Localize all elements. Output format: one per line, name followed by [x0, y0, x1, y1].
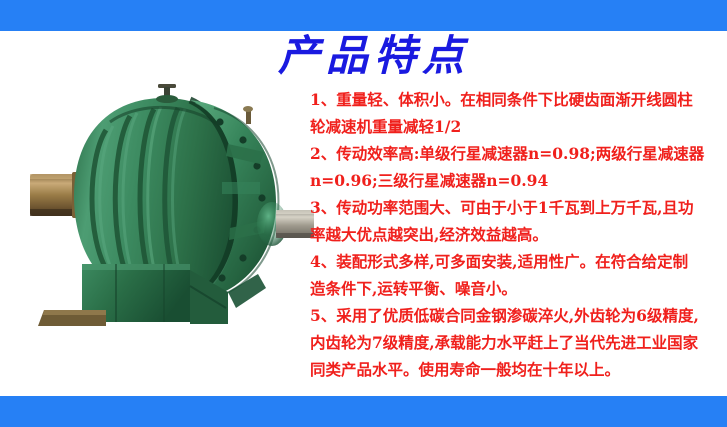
breather-vent-plug	[156, 84, 178, 103]
feature-line: 轮减速机重量减轻1/2	[310, 113, 722, 140]
page-title: 产品特点	[278, 33, 470, 78]
feature-line: 4、装配形式多样,可多面安装,适用性广。在符合给定制	[310, 248, 722, 275]
bottom-accent-bar	[0, 396, 727, 427]
product-photo-gear-reducer	[14, 78, 314, 326]
feature-line: 率越大优点越突出,经济效益越高。	[310, 221, 722, 248]
feature-line: 内齿轮为7级精度,承载能力水平赶上了当代先进工业国家	[310, 329, 722, 356]
feature-text-block: 1、重量轻、体积小。在相同条件下比硬齿面渐开线圆柱 轮减速机重量减轻1/2 2、…	[310, 86, 722, 383]
feature-line: 1、重量轻、体积小。在相同条件下比硬齿面渐开线圆柱	[310, 86, 722, 113]
feature-line: 3、传动功率范围大、可由于小于1千瓦到上万千瓦,且功	[310, 194, 722, 221]
feature-line: 同类产品水平。使用寿命一般均在十年以上。	[310, 356, 722, 383]
lifting-stud	[243, 106, 253, 124]
input-shaft	[257, 202, 314, 246]
product-feature-banner: 产品特点 1、重量轻、体积小。在相同条件下比硬齿面渐开线圆柱 轮减速机重量减轻1…	[0, 0, 727, 427]
output-shaft	[30, 172, 81, 218]
feature-line: 5、采用了优质低碳合同金钢渗碳淬火,外齿轮为6级精度,	[310, 302, 722, 329]
feature-line: n=0.96;三级行星减速器n=0.94	[310, 167, 722, 194]
feature-line: 2、传动效率高:单级行星减速器n=0.98;两级行星减速器	[310, 140, 722, 167]
feature-line: 造条件下,运转平衡、噪音小。	[310, 275, 722, 302]
top-accent-bar	[0, 0, 727, 31]
